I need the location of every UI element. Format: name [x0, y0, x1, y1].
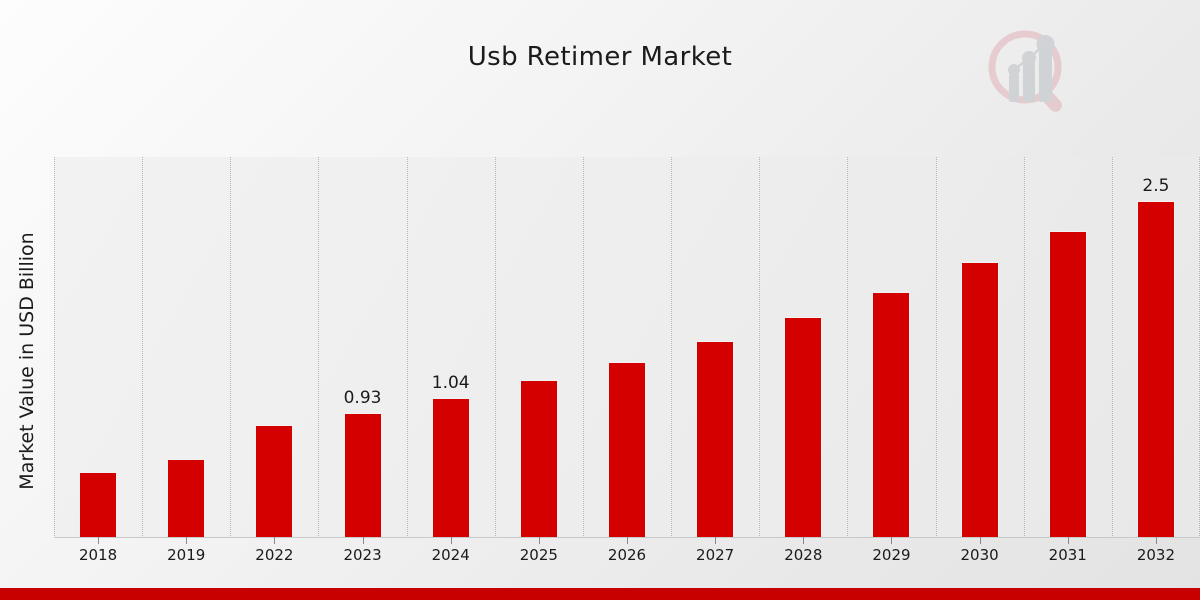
x-tick [539, 537, 540, 544]
magnifier-bar-chart-logo-icon [978, 22, 1082, 126]
x-tick-label-2029: 2029 [851, 546, 931, 564]
x-tick [715, 537, 716, 544]
gridline [318, 157, 319, 538]
bar-2026[interactable] [608, 362, 646, 538]
x-tick-label-2019: 2019 [146, 546, 226, 564]
gridline [142, 157, 143, 538]
x-tick [363, 537, 364, 544]
bar-2027[interactable] [696, 341, 734, 538]
x-tick [803, 537, 804, 544]
bar-2024[interactable] [432, 398, 470, 538]
bar-2023[interactable] [344, 413, 382, 538]
x-tick [1156, 537, 1157, 544]
x-tick-label-2025: 2025 [499, 546, 579, 564]
gridline [671, 157, 672, 538]
bar-2028[interactable] [784, 317, 822, 538]
x-tick-label-2028: 2028 [763, 546, 843, 564]
gridline [230, 157, 231, 538]
plot-area [54, 157, 1200, 538]
gridline [1112, 157, 1113, 538]
gridline [495, 157, 496, 538]
bar-2022[interactable] [255, 425, 293, 538]
x-tick [1068, 537, 1069, 544]
x-tick-label-2026: 2026 [587, 546, 667, 564]
bar-2031[interactable] [1049, 231, 1087, 538]
x-tick [186, 537, 187, 544]
x-tick [451, 537, 452, 544]
bar-2030[interactable] [961, 262, 999, 538]
gridline [936, 157, 937, 538]
x-tick-label-2027: 2027 [675, 546, 755, 564]
gridline [759, 157, 760, 538]
gridline [1024, 157, 1025, 538]
bar-2019[interactable] [167, 459, 205, 538]
x-tick-label-2024: 2024 [411, 546, 491, 564]
footer-accent-bar [0, 588, 1200, 600]
bar-2029[interactable] [872, 292, 910, 538]
bar-value-label-2023: 0.93 [323, 388, 403, 408]
bar-2025[interactable] [520, 380, 558, 538]
x-tick-label-2030: 2030 [940, 546, 1020, 564]
x-tick-label-2018: 2018 [58, 546, 138, 564]
bar-2032[interactable] [1137, 201, 1175, 538]
x-tick [980, 537, 981, 544]
x-tick-label-2023: 2023 [323, 546, 403, 564]
x-tick [627, 537, 628, 544]
bar-value-label-2024: 1.04 [411, 373, 491, 393]
gridline [54, 157, 55, 538]
x-tick-label-2031: 2031 [1028, 546, 1108, 564]
chart-container: Usb Retimer Market Market Value in USD B… [0, 0, 1200, 600]
bar-2018[interactable] [79, 472, 117, 538]
gridline [407, 157, 408, 538]
x-tick [891, 537, 892, 544]
bar-value-label-2032: 2.5 [1116, 176, 1196, 196]
x-tick [274, 537, 275, 544]
gridline [583, 157, 584, 538]
y-axis-title: Market Value in USD Billion [16, 151, 38, 571]
x-tick [98, 537, 99, 544]
x-tick-label-2022: 2022 [234, 546, 314, 564]
x-tick-label-2032: 2032 [1116, 546, 1196, 564]
gridline [847, 157, 848, 538]
